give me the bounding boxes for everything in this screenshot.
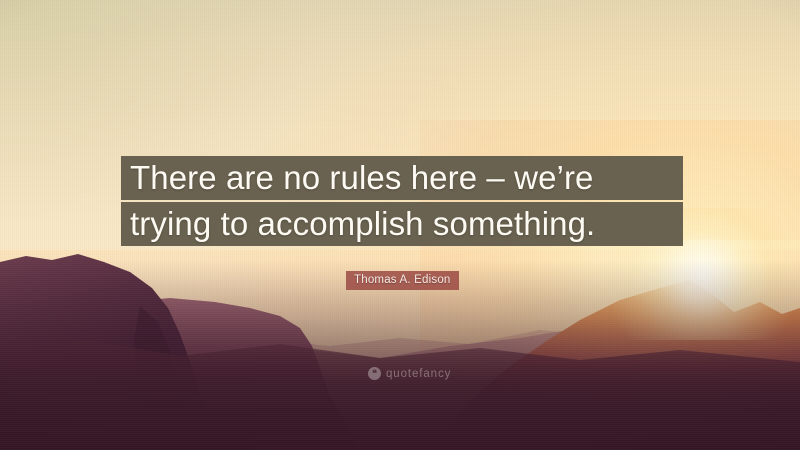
quote-poster: There are no rules here – we’re trying t… xyxy=(0,0,800,450)
quote-line-1: There are no rules here – we’re xyxy=(121,156,683,200)
quote-line-2: trying to accomplish something. xyxy=(121,202,683,246)
quote-mark-icon: ❝ xyxy=(368,367,381,380)
quotefancy-watermark[interactable]: ❝ quotefancy xyxy=(368,367,451,380)
author-attribution: Thomas A. Edison xyxy=(346,271,459,290)
quote-text-block: There are no rules here – we’re trying t… xyxy=(121,156,683,246)
watermark-label: quotefancy xyxy=(386,368,451,380)
